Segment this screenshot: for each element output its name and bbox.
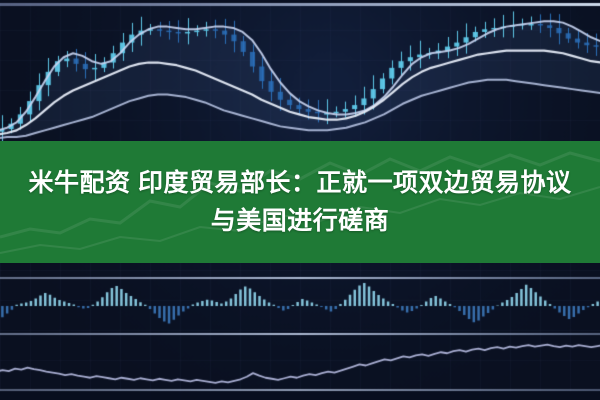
stock-chart-news-banner: 米牛配资 印度贸易部长：正就一项双边贸易协议 与美国进行磋商 <box>0 0 600 400</box>
headline-line-1: 米牛配资 印度贸易部长：正就一项双边贸易协议 <box>29 164 572 202</box>
headline-overlay-band: 米牛配资 印度贸易部长：正就一项双边贸易协议 与美国进行磋商 <box>0 141 600 263</box>
headline-line-2: 与美国进行磋商 <box>211 202 390 240</box>
